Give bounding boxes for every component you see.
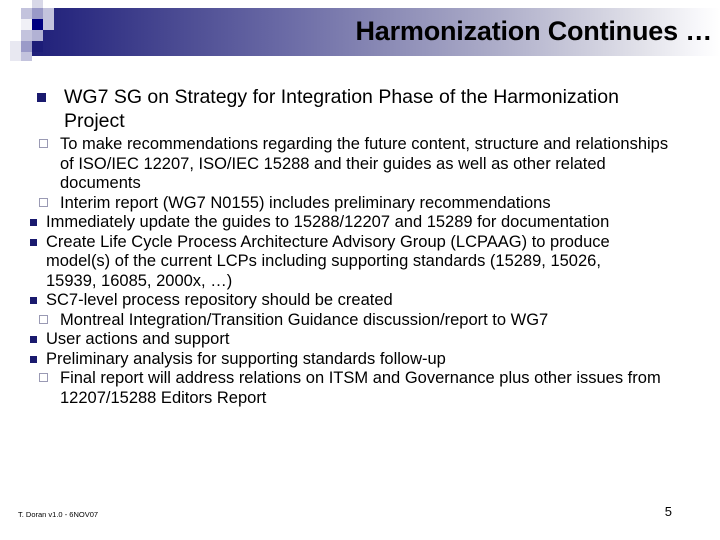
hollow-square-bullet-icon	[39, 315, 48, 324]
hollow-square-bullet-icon	[39, 198, 48, 207]
list-item-text: Preliminary analysis for supporting stan…	[46, 350, 626, 370]
list-item-text: User actions and support	[46, 330, 626, 350]
list-item: To make recommendations regarding the fu…	[38, 135, 675, 194]
slide-footer: T. Doran v1.0 - 6NOV07 5	[0, 496, 720, 540]
small-filled-square-bullet-icon	[30, 336, 37, 343]
footer-credit-text: T. Doran v1.0 - 6NOV07	[18, 510, 98, 519]
header-decoration-square-13	[21, 52, 32, 61]
slide-header: Harmonization Continues …	[0, 0, 720, 72]
list-item: Final report will address relations on I…	[38, 369, 675, 408]
filled-square-bullet-icon	[37, 93, 46, 102]
header-decoration-square-14	[10, 52, 21, 61]
list-item: Interim report (WG7 N0155) includes prel…	[38, 194, 675, 214]
small-filled-square-bullet-icon	[30, 356, 37, 363]
list-item: WG7 SG on Strategy for Integration Phase…	[35, 86, 644, 133]
list-item-text: To make recommendations regarding the fu…	[60, 135, 675, 194]
small-filled-square-bullet-icon	[30, 297, 37, 304]
list-item-text: SC7-level process repository should be c…	[46, 291, 626, 311]
list-item: Create Life Cycle Process Architecture A…	[28, 233, 626, 292]
bullet-list: WG7 SG on Strategy for Integration Phase…	[0, 86, 720, 408]
list-item: SC7-level process repository should be c…	[28, 291, 626, 311]
list-item: User actions and support	[28, 330, 626, 350]
list-item-text: Immediately update the guides to 15288/1…	[46, 213, 626, 233]
page-number: 5	[665, 504, 672, 519]
hollow-square-bullet-icon	[39, 373, 48, 382]
list-item: Montreal Integration/Transition Guidance…	[38, 311, 675, 331]
slide-content: WG7 SG on Strategy for Integration Phase…	[0, 86, 720, 408]
hollow-square-bullet-icon	[39, 139, 48, 148]
list-item-text: Create Life Cycle Process Architecture A…	[46, 233, 626, 292]
list-item-text: Montreal Integration/Transition Guidance…	[60, 311, 675, 331]
list-item-text: Final report will address relations on I…	[60, 369, 675, 408]
small-filled-square-bullet-icon	[30, 239, 37, 246]
list-item: Preliminary analysis for supporting stan…	[28, 350, 626, 370]
list-item-text: WG7 SG on Strategy for Integration Phase…	[64, 86, 644, 133]
page-title: Harmonization Continues …	[12, 14, 712, 48]
list-item: Immediately update the guides to 15288/1…	[28, 213, 626, 233]
list-item-text: Interim report (WG7 N0155) includes prel…	[60, 194, 675, 214]
small-filled-square-bullet-icon	[30, 219, 37, 226]
